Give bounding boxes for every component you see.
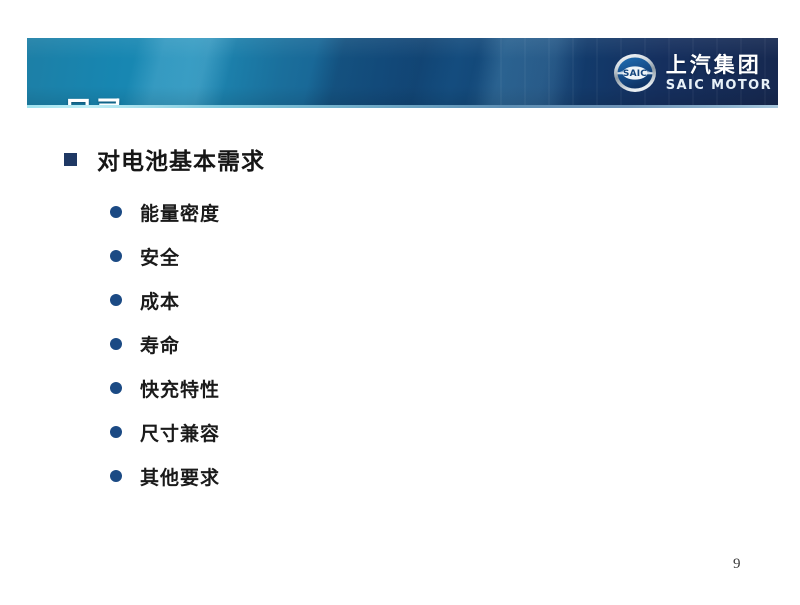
dot-bullet-icon <box>110 338 122 350</box>
list-item-label: 其他要求 <box>140 463 220 490</box>
list-item: 其他要求 <box>110 454 220 498</box>
dot-bullet-icon <box>110 470 122 482</box>
heading-label: 对电池基本需求 <box>97 142 265 176</box>
page-number: 9 <box>733 556 741 573</box>
dot-bullet-icon <box>110 206 122 218</box>
list-item-label: 快充特性 <box>140 375 220 402</box>
saic-brand-cn: 上汽集团 <box>666 55 772 76</box>
list-item: 成本 <box>110 278 220 322</box>
list-item: 尺寸兼容 <box>110 410 220 454</box>
dot-bullet-icon <box>110 426 122 438</box>
outline-list: 能量密度 安全 成本 寿命 快充特性 尺寸兼容 <box>110 190 220 498</box>
dot-bullet-icon <box>110 294 122 306</box>
dot-bullet-icon <box>110 250 122 262</box>
saic-oval-emblem-icon: SAIC <box>612 50 658 96</box>
list-item-label: 寿命 <box>140 331 180 358</box>
dot-bullet-icon <box>110 382 122 394</box>
list-item: 快充特性 <box>110 366 220 410</box>
header-banner: 目录 <box>27 38 778 107</box>
square-bullet-icon <box>64 153 77 166</box>
heading-row: 对电池基本需求 <box>64 142 265 176</box>
list-item-label: 能量密度 <box>140 199 220 226</box>
svg-text:SAIC: SAIC <box>623 69 647 79</box>
slide-root: 目录 <box>0 0 800 605</box>
list-item-label: 尺寸兼容 <box>140 419 220 446</box>
list-item-label: 安全 <box>140 243 180 270</box>
list-item: 寿命 <box>110 322 220 366</box>
list-item-label: 成本 <box>140 287 180 314</box>
saic-logo: SAIC 上汽集团 SAIC MOTOR <box>612 48 772 98</box>
list-item: 安全 <box>110 234 220 278</box>
list-item: 能量密度 <box>110 190 220 234</box>
saic-logo-text: 上汽集团 SAIC MOTOR <box>666 55 772 92</box>
saic-brand-en: SAIC MOTOR <box>666 79 772 92</box>
banner-bottom-edge <box>27 105 778 108</box>
